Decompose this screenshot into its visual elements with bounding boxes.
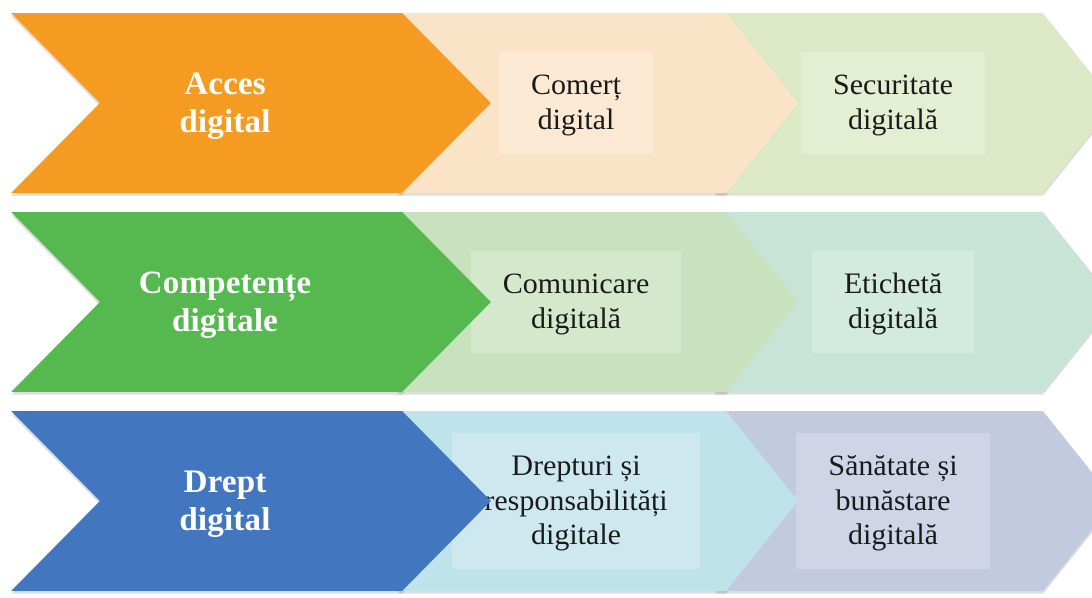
chevron-label-sanatate-si-bunastare-digitala: Sănătate și bunăstare digitală: [822, 449, 963, 553]
chevron-diagram: Acces digital Comerț digital Securitate …: [0, 0, 1092, 598]
chevron-row-acces-digital: Acces digital Comerț digital Securitate …: [0, 13, 1092, 193]
chevron-label-acces-digital: Acces digital: [173, 65, 276, 142]
chevron-drept-digital[interactable]: Drept digital: [11, 411, 491, 591]
chevron-label-drept-digital: Drept digital: [173, 463, 276, 540]
chevron-row-competente-digitale: Competențe digitale Comunicare digitală …: [0, 212, 1092, 392]
chevron-label-eticheta-digitala: Etichetă digitală: [838, 267, 948, 337]
chevron-label-comert-digital: Comerț digital: [525, 68, 627, 138]
chevron-label-securitate-digitala: Securitate digitală: [827, 68, 959, 138]
chevron-label-drepturi-si-responsabilitati-digitale: Drepturi și responsabilități digitale: [478, 449, 673, 553]
chevron-row-drept-digital: Drept digital Drepturi și responsabilită…: [0, 411, 1092, 591]
chevron-label-comunicare-digitala: Comunicare digitală: [497, 267, 656, 337]
chevron-label-competente-digitale: Competențe digitale: [133, 264, 317, 341]
chevron-competente-digitale[interactable]: Competențe digitale: [11, 212, 491, 392]
chevron-acces-digital[interactable]: Acces digital: [11, 13, 491, 193]
